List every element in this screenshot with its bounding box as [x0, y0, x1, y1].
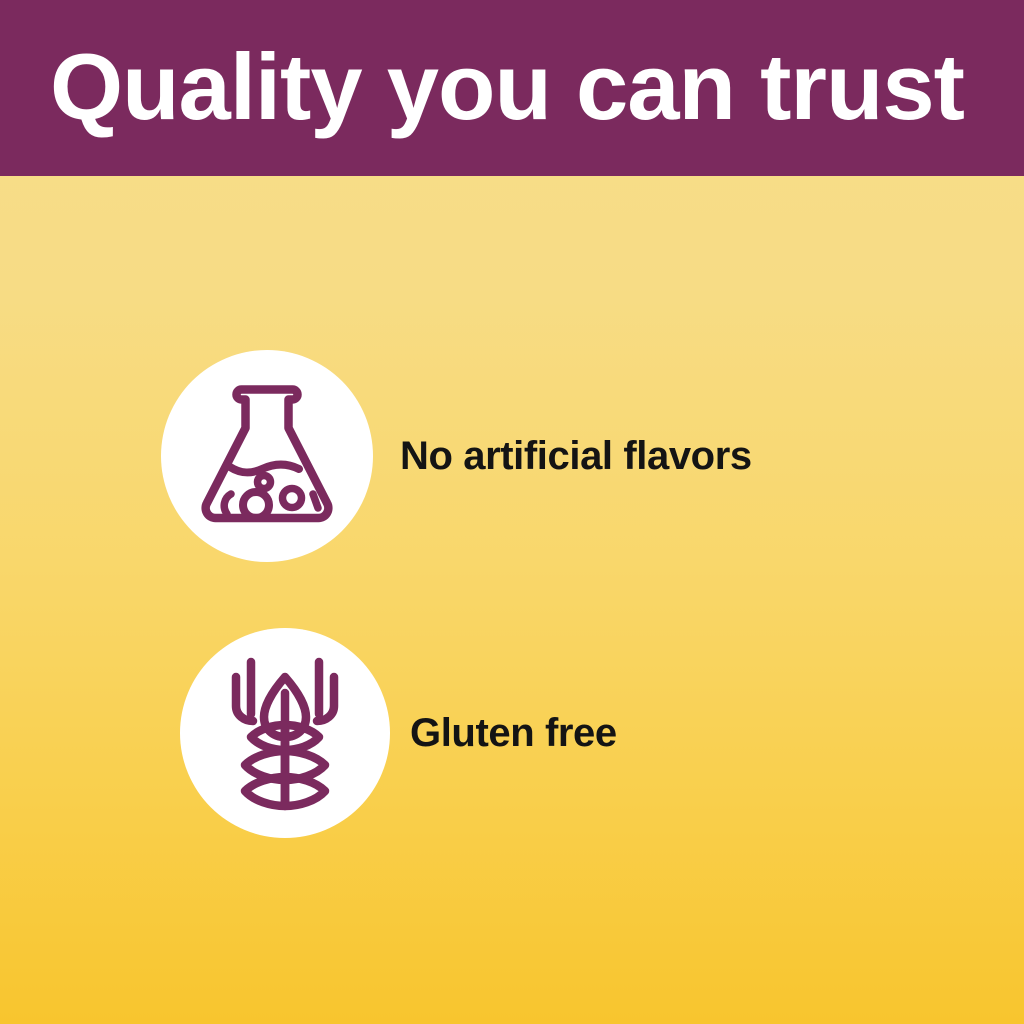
- page-title: Quality you can trust: [50, 28, 1000, 146]
- feature-badge-circle: [180, 628, 390, 838]
- quality-badge-panel: Quality you can trust: [0, 0, 1024, 1024]
- header-band: Quality you can trust: [0, 0, 1024, 176]
- feature-item-gluten-free: Gluten free: [180, 628, 617, 838]
- feature-label: No artificial flavors: [400, 432, 752, 480]
- wheat-icon: [226, 651, 344, 815]
- feature-badge-circle: [161, 350, 373, 562]
- feature-label: Gluten free: [410, 709, 617, 757]
- feature-item-no-artificial-flavors: No artificial flavors: [161, 350, 752, 562]
- flask-icon: [199, 381, 335, 531]
